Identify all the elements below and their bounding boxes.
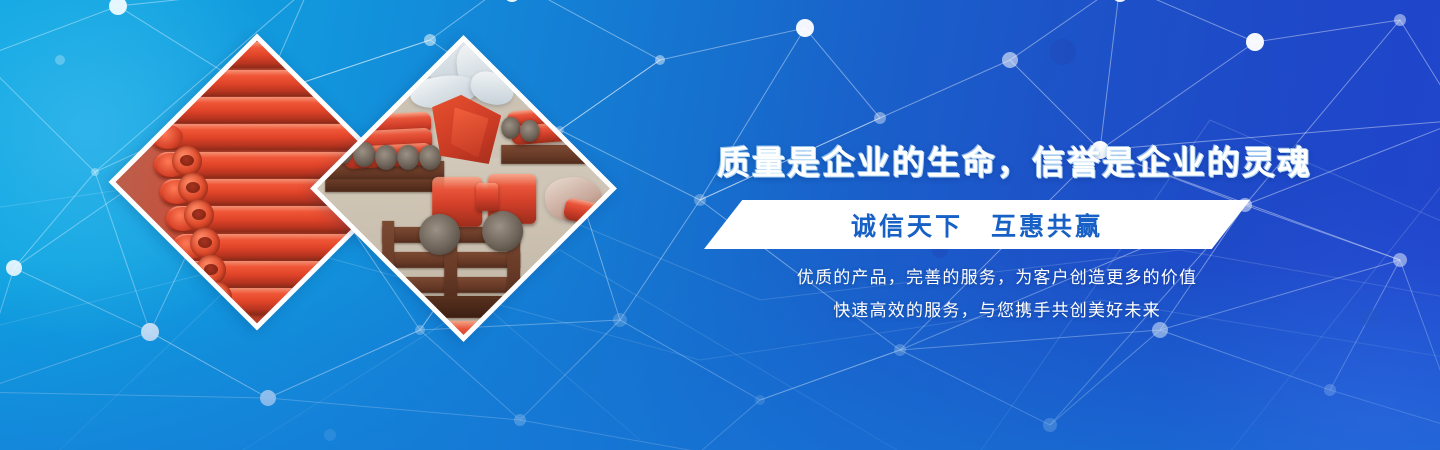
promo-banner: 质量是企业的生命，信誉是企业的灵魂 诚信天下 互惠共赢 优质的产品，完善的服务，… xyxy=(0,0,1440,450)
headline: 质量是企业的生命，信誉是企业的灵魂 xyxy=(717,136,1277,184)
photo-warehouse-pallets xyxy=(317,42,610,335)
slogan-ribbon: 诚信天下 互惠共赢 xyxy=(704,200,1250,249)
subtitle-line-2: 快速高效的服务，与您携手共创美好未来 xyxy=(717,295,1277,328)
subtitle-block: 优质的产品，完善的服务，为客户创造更多的价值 快速高效的服务，与您携手共创美好未… xyxy=(717,262,1277,328)
subtitle-line-1: 优质的产品，完善的服务，为客户创造更多的价值 xyxy=(717,262,1277,295)
product-photo-flanged-shafts-on-pallets xyxy=(310,35,617,342)
ribbon-label: 诚信天下 互惠共赢 xyxy=(704,200,1250,249)
